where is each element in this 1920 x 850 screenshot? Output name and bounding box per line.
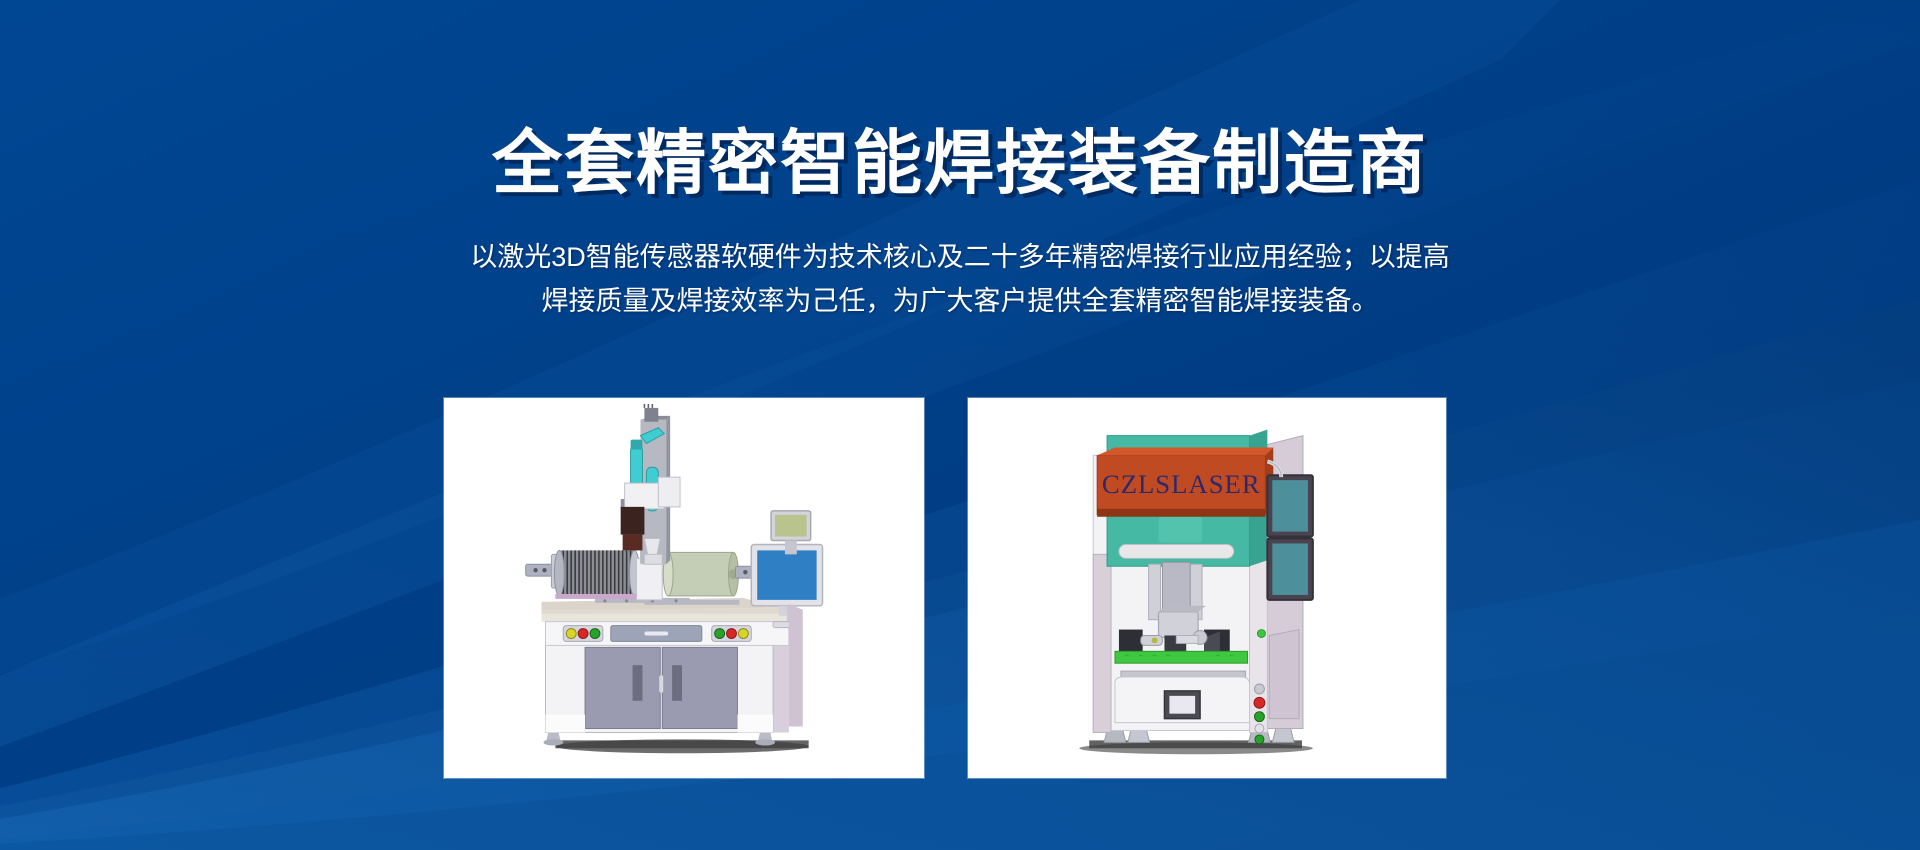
cabinet-type-laser-welding-machine-illustration: CZLSLASER [970,400,1444,776]
product-image-card-right[interactable]: CZLSLASER [968,398,1446,778]
left-sensor-module [1119,630,1143,652]
subtitle-line-2: 焊接质量及焊接效率为己任，为广大客户提供全套精密智能焊接装备。 [410,280,1510,324]
status-light-green [1257,630,1265,638]
monitor-lower-screen [1272,543,1308,594]
subtitle-paragraph: 以激光3D智能传感器软硬件为技术核心及二十多年精密焊接行业应用经验；以提高 焊接… [410,236,1510,323]
page-title: 全套精密智能焊接装备制造商 [0,125,1920,202]
indicator-light-green-2 [1255,735,1264,744]
product-image-card-left[interactable] [444,398,924,778]
hmi-monitor-screen [757,550,816,599]
brand-label: CZLSLASER [1102,469,1261,499]
subtitle-line-1: 以激光3D智能传感器软硬件为技术核心及二十多年精密焊接行业应用经验；以提高 [410,236,1510,280]
indicator-light-green-right [715,629,725,639]
secondary-display-screen [775,515,807,537]
emergency-stop-button[interactable] [1254,697,1265,708]
indicator-light-white [1255,724,1264,733]
indicator-light-red-left [578,629,588,639]
indicator-light-grey [1254,684,1264,694]
monitor-upper-screen [1272,480,1308,531]
indicator-light-green-1 [1254,712,1264,722]
precision-laser-welding-workstation-illustration [446,400,922,776]
indicator-light-yellow-right [738,629,748,639]
hero-banner: 全套精密智能焊接装备制造商 以激光3D智能传感器软硬件为技术核心及二十多年精密焊… [0,0,1920,850]
cabinet-door-left [585,647,660,728]
work-platform [1115,651,1248,663]
indicator-light-red-right [727,629,737,639]
indicator-light-green-left [590,629,600,639]
indicator-light-yellow-left [566,629,576,639]
